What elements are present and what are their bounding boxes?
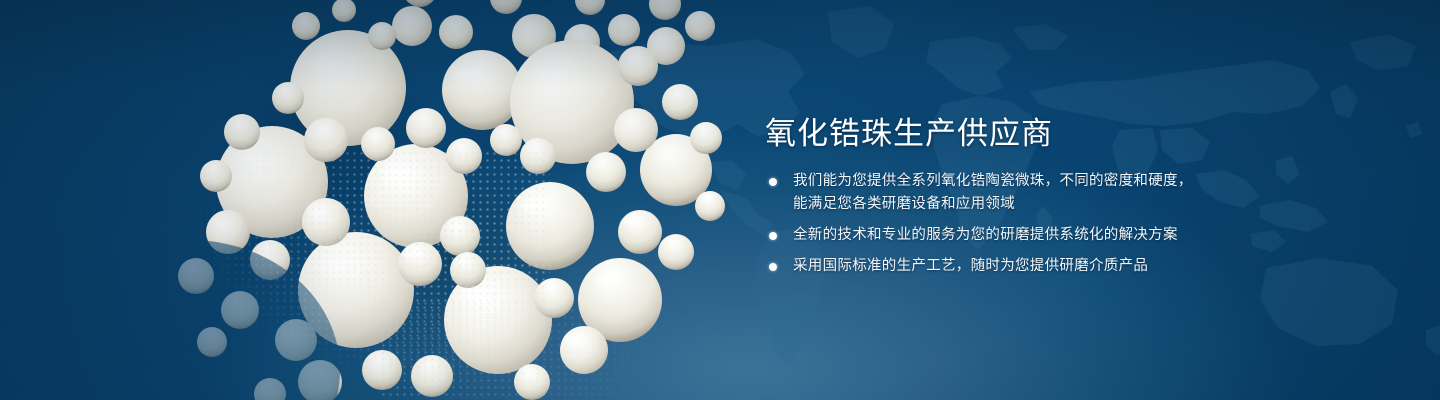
banner-bullet-list: 我们能为您提供全系列氧化锆陶瓷微珠，不同的密度和硬度，能满足您各类研磨设备和应用… <box>765 170 1205 286</box>
bullet-item-3: 采用国际标准的生产工艺，随时为您提供研磨介质产品 <box>765 255 1205 278</box>
banner-headline: 氧化锆珠生产供应商 <box>765 108 1053 153</box>
bullet-item-2: 全新的技术和专业的服务为您的研磨提供系统化的解决方案 <box>765 224 1205 247</box>
bullet-item-1: 我们能为您提供全系列氧化锆陶瓷微珠，不同的密度和硬度，能满足您各类研磨设备和应用… <box>765 170 1205 216</box>
hero-banner: 氧化锆珠生产供应商 我们能为您提供全系列氧化锆陶瓷微珠，不同的密度和硬度，能满足… <box>0 0 1440 400</box>
banner-content: 氧化锆珠生产供应商 我们能为您提供全系列氧化锆陶瓷微珠，不同的密度和硬度，能满足… <box>765 0 1235 400</box>
